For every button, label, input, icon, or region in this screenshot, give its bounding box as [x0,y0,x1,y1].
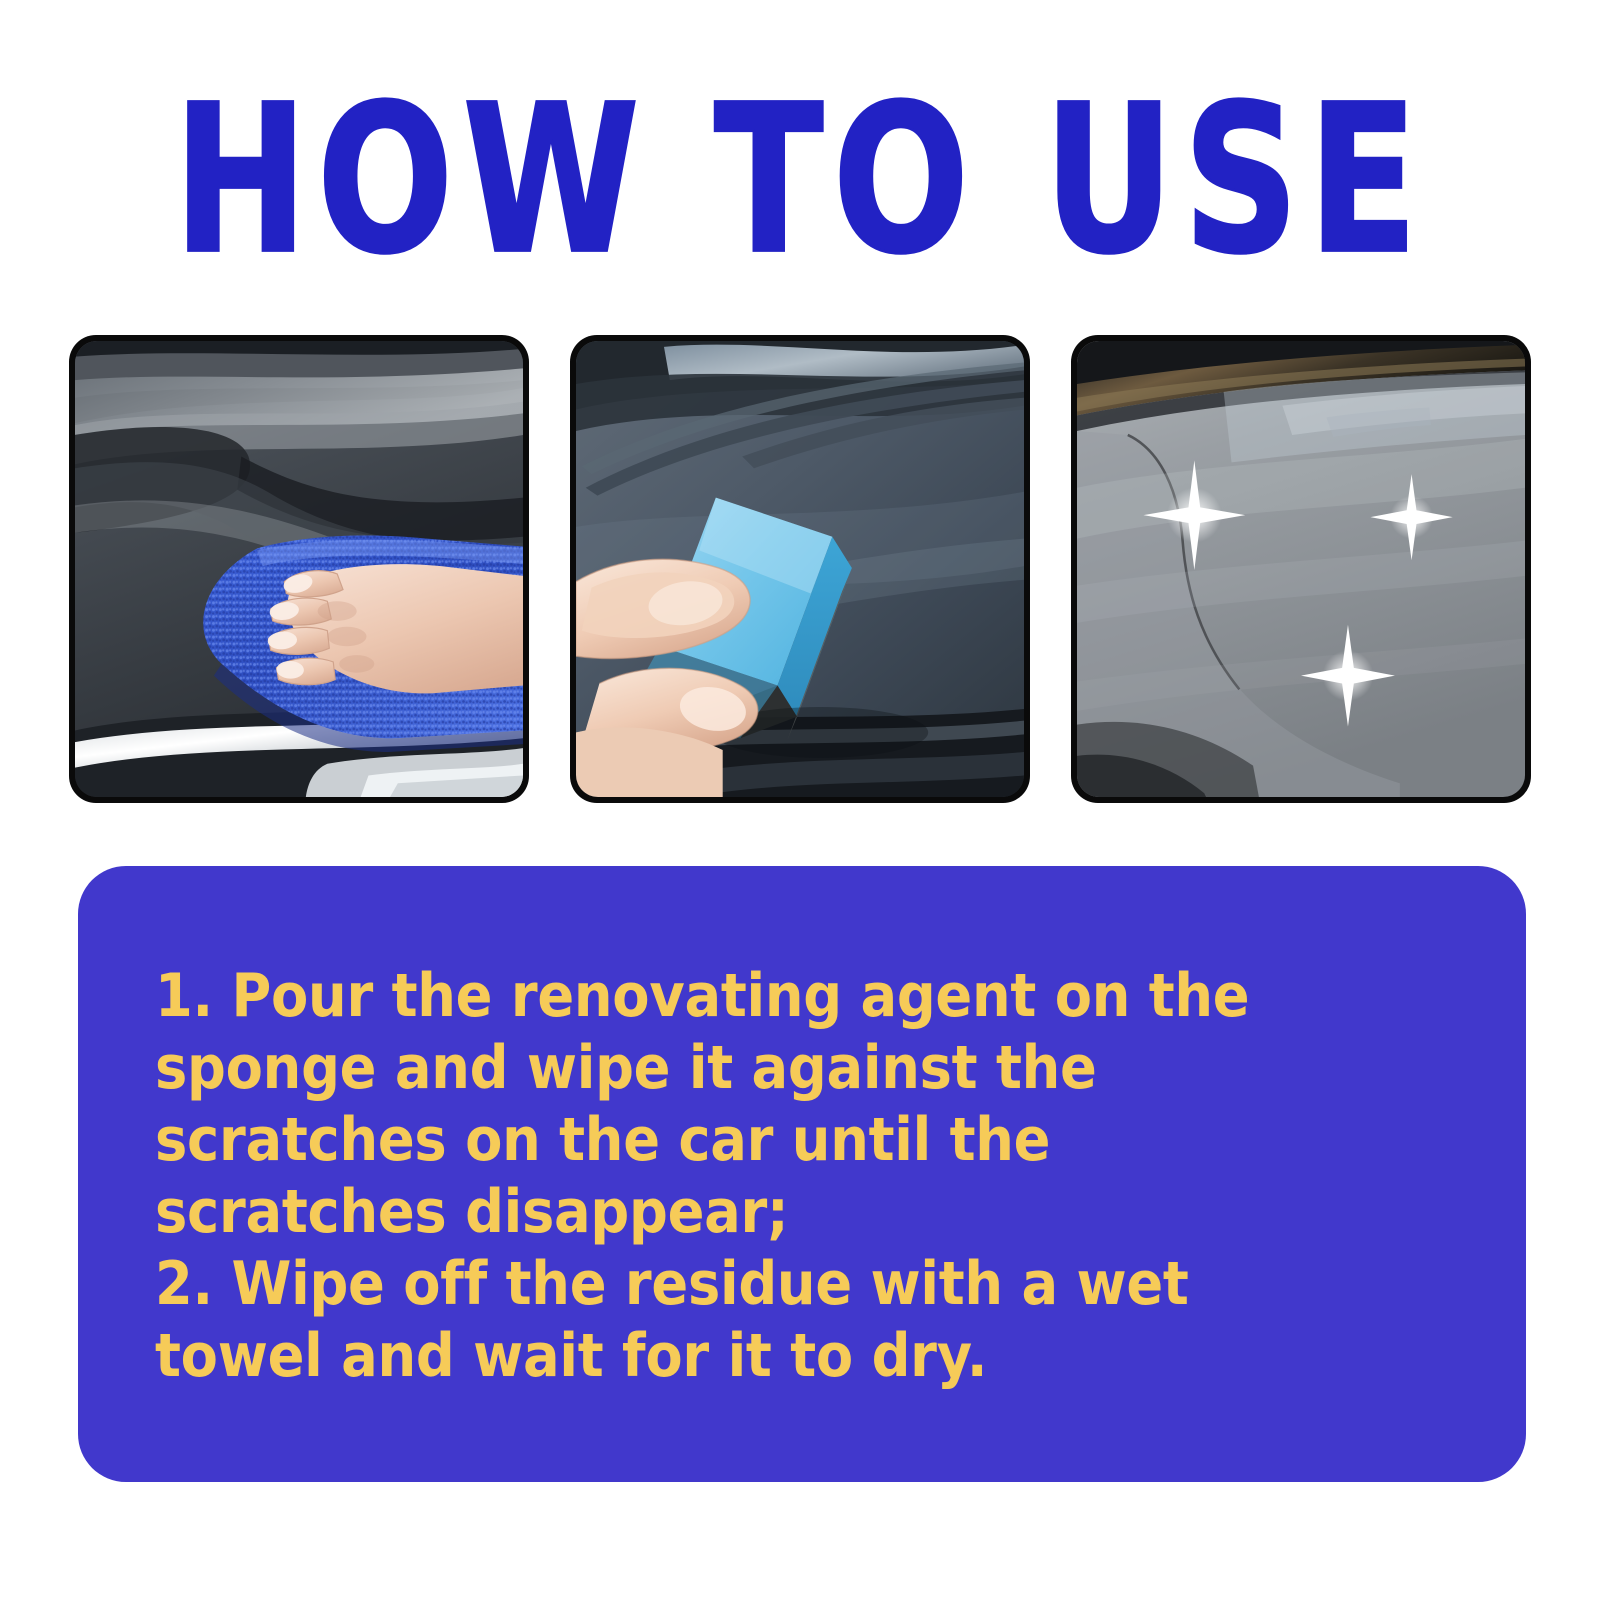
instructions-panel: 1. Pour the renovating agent on the spon… [78,866,1526,1482]
car-sponge-apply-photo [576,341,1024,797]
photo-card-apply-with-sponge[interactable] [571,336,1029,802]
page-header: HOW TO USE [0,86,1600,276]
car-towel-wipe-illustration [75,341,523,797]
car-shine-result-photo [1077,341,1525,797]
car-sponge-apply-illustration [576,341,1024,797]
car-towel-wipe-photo [75,341,523,797]
car-shine-result-illustration [1077,341,1525,797]
photo-card-shiny-result[interactable] [1072,336,1530,802]
photo-card-wipe-with-towel[interactable] [70,336,528,802]
how-to-use-photo-gallery [70,336,1530,802]
instructions-body-text: 1. Pour the renovating agent on the spon… [155,960,1332,1392]
page-title: HOW TO USE [173,79,1426,283]
